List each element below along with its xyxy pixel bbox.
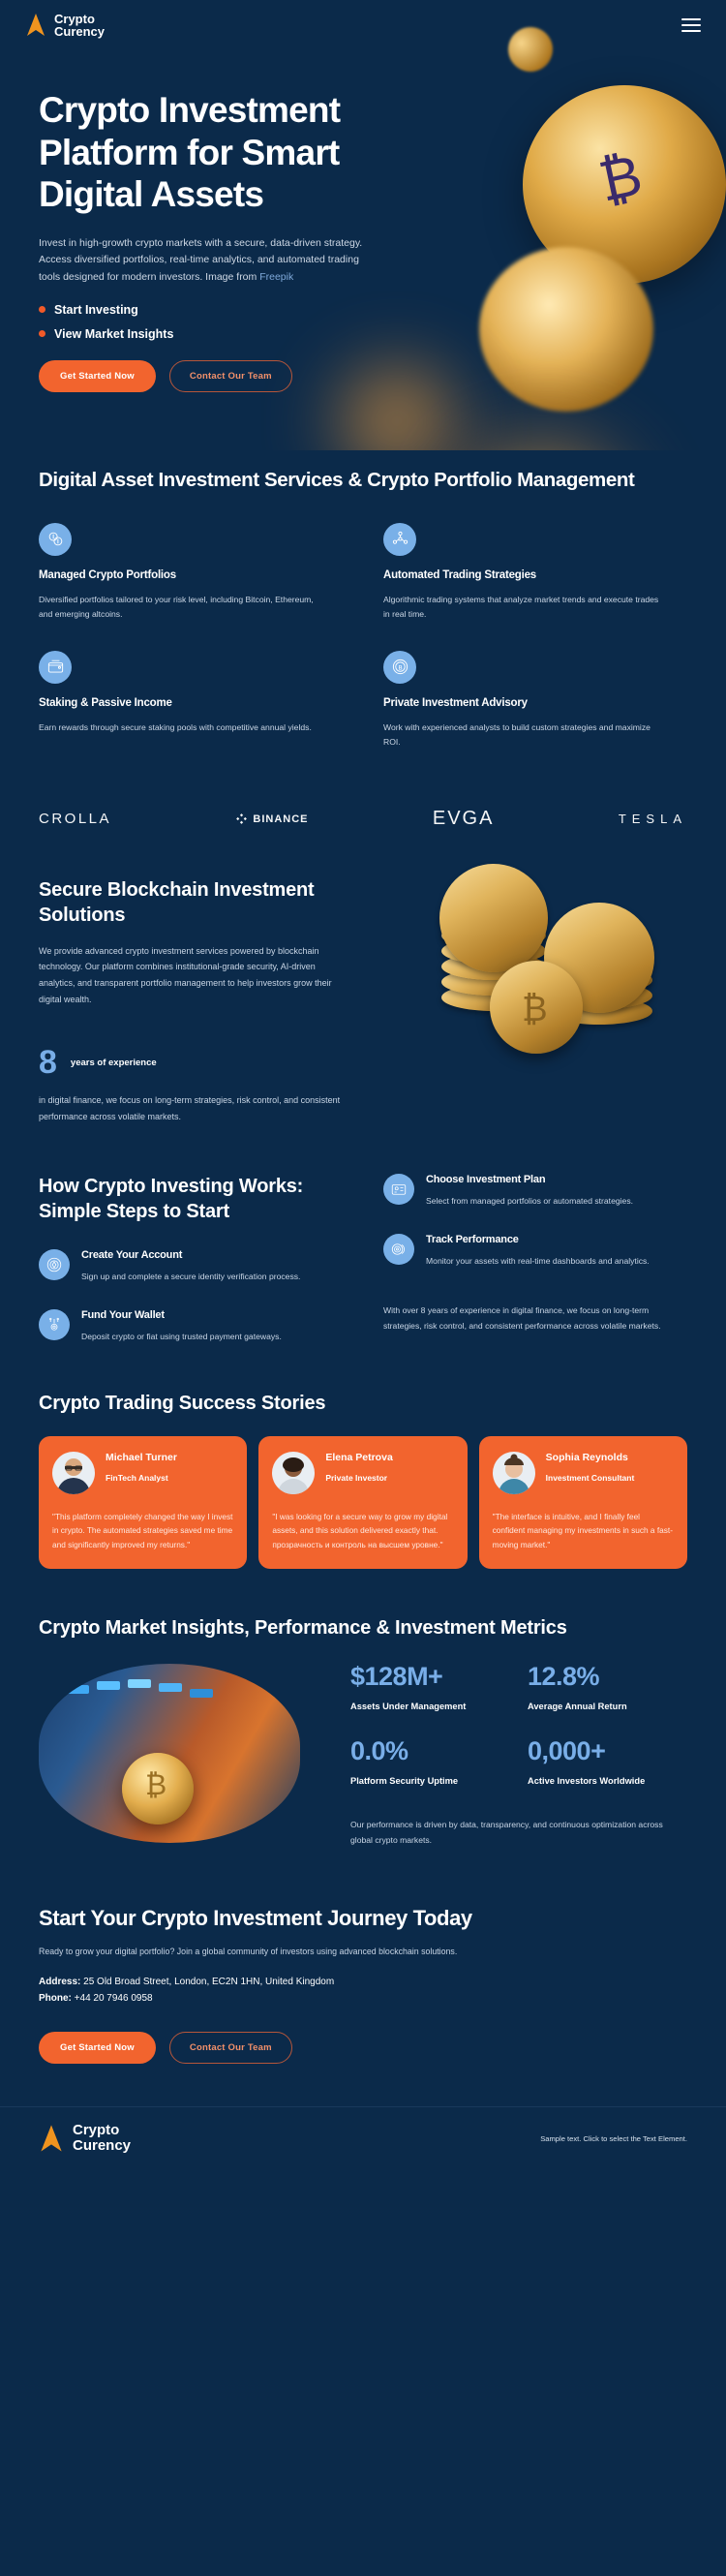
how-right-column: Choose Investment Plan Select from manag… [383,1174,687,1344]
brand-line-2: Curency [54,25,105,39]
site-footer: Crypto Curency Sample text. Click to sel… [0,2107,726,2154]
service-desc: Algorithmic trading systems that analyze… [383,593,664,622]
evga-logo-text: EVGA [433,808,495,830]
testimonials-section: Crypto Trading Success Stories M [0,1344,726,1570]
hamburger-bar [681,18,701,20]
service-desc: Diversified portfolios tailored to your … [39,593,319,622]
hamburger-bar [681,30,701,32]
binance-logo: BINANCE [235,813,308,825]
testimonial-name: Elena Petrova [325,1452,392,1464]
hero-bullet-item[interactable]: Start Investing [39,303,416,317]
testimonial-role: Investment Consultant [546,1473,635,1484]
avatar [493,1452,535,1494]
binance-logo-text: BINANCE [253,813,308,825]
testimonial-quote: "This platform completely changed the wa… [52,1510,233,1552]
final-cta-section: Start Your Crypto Investment Journey Tod… [0,1848,726,2064]
metric-label: Platform Security Uptime [350,1775,510,1788]
metric-label: Assets Under Management [350,1701,510,1713]
bitcoin-circle-icon: B [383,651,416,684]
services-grid: Managed Crypto Portfolios Diversified po… [39,523,687,750]
metric-value: 12.8% [528,1664,687,1690]
metric-label: Average Annual Return [528,1701,687,1713]
metrics-note: Our performance is driven by data, trans… [350,1818,687,1848]
how-heading: How Crypto Investing Works: Simple Steps… [39,1174,343,1224]
step-title: Fund Your Wallet [81,1309,282,1321]
hero-lead-text: Invest in high-growth crypto markets wit… [39,237,362,283]
footer-brand-line-2: Curency [73,2138,131,2154]
metric-item: 12.8% Average Annual Return [528,1664,687,1713]
footer-brand-logo[interactable]: Crypto Curency [39,2123,131,2154]
cta-contact-team-button[interactable]: Contact Our Team [169,2032,292,2064]
testimonial-cards: Michael Turner FinTech Analyst "This pla… [39,1436,687,1570]
footer-sample-text: Sample text. Click to select the Text El… [540,2134,687,2143]
how-note: With over 8 years of experience in digit… [383,1303,687,1334]
step-title: Track Performance [426,1234,650,1245]
network-share-icon [39,1309,70,1340]
footer-brand-line-1: Crypto [73,2123,131,2138]
get-started-button[interactable]: Get Started Now [39,360,156,392]
how-left-column: How Crypto Investing Works: Simple Steps… [39,1174,343,1344]
service-title: Staking & Passive Income [39,697,343,709]
testimonial-card[interactable]: Michael Turner FinTech Analyst "This pla… [39,1436,247,1570]
crolla-logo-text: CROLLA [39,811,111,827]
testimonial-role: Private Investor [325,1473,392,1484]
metrics-heading: Crypto Market Insights, Performance & In… [39,1615,687,1641]
secure-body: We provide advanced crypto investment se… [39,943,348,1008]
evga-logo: EVGA [433,808,495,830]
metrics-grid: $128M+ Assets Under Management 12.8% Ave… [350,1664,687,1848]
step-desc: Deposit crypto or fiat using trusted pay… [81,1330,282,1344]
portfolio-coins-icon [39,523,72,556]
brand-line-1: Crypto [54,13,105,26]
svg-text:B: B [398,665,402,672]
testimonial-quote: "The interface is intuitive, and I final… [493,1510,674,1552]
testimonial-role: FinTech Analyst [106,1473,177,1484]
cta-sub: Ready to grow your digital portfolio? Jo… [39,1947,687,1956]
binance-diamond-icon [235,813,248,825]
hamburger-menu-icon[interactable] [681,18,701,32]
cta-get-started-button[interactable]: Get Started Now [39,2032,156,2064]
service-title: Automated Trading Strategies [383,569,687,581]
secure-blockchain-section: ₿ Secure Blockchain Investment Solutions… [0,850,726,1125]
step-title: Choose Investment Plan [426,1174,633,1185]
ethereum-coin-icon [39,1249,70,1280]
metric-value: $128M+ [350,1664,510,1690]
partner-logos-row: CROLLA BINANCE EVGA TESLA [0,788,726,850]
testimonial-quote: "I was looking for a secure way to grow … [272,1510,453,1552]
address-value: 25 Old Broad Street, London, EC2N 1HN, U… [80,1977,334,1987]
stacked-coins-icon [383,1234,414,1265]
metric-value: 0,000+ [528,1738,687,1764]
step-title: Create Your Account [81,1249,300,1261]
avatar [272,1452,315,1494]
bitcoin-trading-screens-image: ₿ [39,1664,300,1843]
metric-item: 0,000+ Active Investors Worldwide [528,1738,687,1788]
metric-label: Active Investors Worldwide [528,1775,687,1788]
crolla-logo: CROLLA [39,811,111,827]
bullet-dot-icon [39,306,45,313]
service-desc: Earn rewards through secure staking pool… [39,721,319,735]
hero-section: Crypto Investment Platform for Smart Dig… [0,0,726,450]
step-item[interactable]: Track Performance Monitor your assets wi… [383,1234,687,1269]
step-desc: Sign up and complete a secure identity v… [81,1270,300,1284]
cta-heading: Start Your Crypto Investment Journey Tod… [39,1906,687,1931]
tesla-logo-text: TESLA [619,812,687,826]
footer-brand-name: Crypto Curency [73,2123,131,2154]
service-title: Managed Crypto Portfolios [39,569,343,581]
contact-info: Address: 25 Old Broad Street, London, EC… [39,1974,687,2007]
service-card[interactable]: Staking & Passive Income Earn rewards th… [39,651,343,750]
step-item[interactable]: Create Your Account Sign up and complete… [39,1249,343,1284]
hero-bullet-list: Start Investing View Market Insights [39,303,416,341]
phone-label: Phone: [39,1993,72,2004]
service-card[interactable]: Automated Trading Strategies Algorithmic… [383,523,687,622]
secure-heading: Secure Blockchain Investment Solutions [39,877,329,928]
metric-value: 0.0% [350,1738,510,1764]
metrics-section: Crypto Market Insights, Performance & In… [0,1569,726,1848]
service-title: Private Investment Advisory [383,697,687,709]
hero-button-row: Get Started Now Contact Our Team [39,360,416,392]
testimonial-name: Michael Turner [106,1452,177,1464]
hero-bullet-label: View Market Insights [54,327,173,341]
service-card[interactable]: B Private Investment Advisory Work with … [383,651,687,750]
tesla-logo: TESLA [619,812,687,826]
hero-lead: Invest in high-growth crypto markets wit… [39,235,382,286]
phone-line: Phone: +44 20 7946 0958 [39,1990,687,2007]
testimonial-card[interactable]: Sophia Reynolds Investment Consultant "T… [479,1436,687,1570]
phone-value: +44 20 7946 0958 [72,1993,153,2004]
testimonials-heading: Crypto Trading Success Stories [39,1393,687,1415]
brand-name: Crypto Curency [54,13,105,39]
how-it-works-section: How Crypto Investing Works: Simple Steps… [0,1125,726,1344]
page-root: Crypto Curency Crypto Investment Platfor… [0,0,726,2576]
address-label: Address: [39,1977,80,1987]
hamburger-bar [681,24,701,26]
hero-bullet-label: Start Investing [54,303,138,317]
hero-title: Crypto Investment Platform for Smart Dig… [39,89,416,216]
step-item[interactable]: Fund Your Wallet Deposit crypto or fiat … [39,1309,343,1344]
freepik-link[interactable]: Freepik [259,271,293,283]
services-heading: Digital Asset Investment Services & Cryp… [39,468,687,494]
service-desc: Work with experienced analysts to build … [383,721,664,750]
coin-decoration-medium [479,247,653,412]
brand-logo[interactable]: Crypto Curency [25,13,105,39]
contact-team-button[interactable]: Contact Our Team [169,360,292,392]
wallet-cards-icon [383,1174,414,1205]
bullet-dot-icon [39,330,45,337]
service-card[interactable]: Managed Crypto Portfolios Diversified po… [39,523,343,622]
step-desc: Monitor your assets with real-time dashb… [426,1254,650,1269]
crypto-arrow-logo-icon [39,2124,64,2154]
hero-bullet-item[interactable]: View Market Insights [39,327,416,341]
step-item[interactable]: Choose Investment Plan Select from manag… [383,1174,687,1209]
metric-item: 0.0% Platform Security Uptime [350,1738,510,1788]
testimonial-card[interactable]: Elena Petrova Private Investor "I was lo… [258,1436,467,1570]
cta-button-row: Get Started Now Contact Our Team [39,2032,687,2064]
address-line: Address: 25 Old Broad Street, London, EC… [39,1974,687,1990]
site-header: Crypto Curency [0,0,726,50]
years-number: 8 [39,1046,57,1079]
network-nodes-icon [383,523,416,556]
bitcoin-coin-stack-image: ₿ [401,860,691,1068]
step-desc: Select from managed portfolios or automa… [426,1194,633,1209]
testimonial-name: Sophia Reynolds [546,1452,635,1464]
avatar [52,1452,95,1494]
secure-sub: in digital finance, we focus on long-ter… [39,1092,363,1124]
wallet-icon [39,651,72,684]
metric-item: $128M+ Assets Under Management [350,1664,510,1713]
years-label: years of experience [71,1058,157,1068]
services-section: Digital Asset Investment Services & Cryp… [0,450,726,750]
crypto-arrow-logo-icon [25,13,46,38]
bitcoin-symbol: ₿ [522,989,548,1029]
